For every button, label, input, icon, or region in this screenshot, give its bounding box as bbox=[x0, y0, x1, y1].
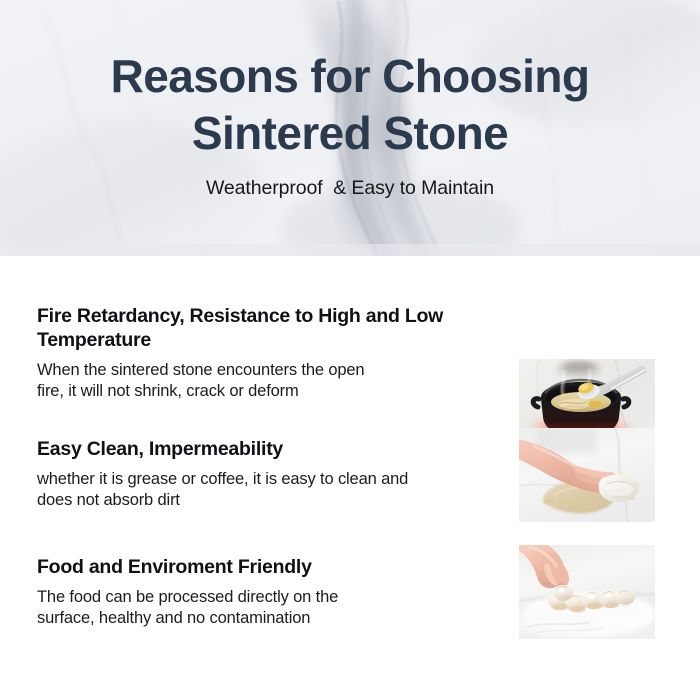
feature-body: The food can be processed directly on th… bbox=[37, 587, 502, 629]
feature-list: Fire Retardancy, Resistance to High and … bbox=[0, 256, 700, 700]
feature-text-block: Food and Enviroment Friendly The food ca… bbox=[37, 555, 502, 629]
feature-body: whether it is grease or coffee, it is ea… bbox=[37, 469, 502, 511]
feature-body-line-1: The food can be processed directly on th… bbox=[37, 587, 502, 608]
feature-body-line-2: does not absorb dirt bbox=[37, 490, 502, 511]
feature-thumbnail bbox=[519, 428, 655, 522]
feature-text-block: Fire Retardancy, Resistance to High and … bbox=[37, 304, 502, 402]
feature-heading-line-1: Fire Retardancy, Resistance to bbox=[37, 305, 313, 327]
header-banner: Reasons for Choosing Sintered Stone Weat… bbox=[0, 0, 700, 256]
feature-body-line-2: surface, healthy and no contamination bbox=[37, 608, 502, 629]
feature-thumbnail bbox=[519, 545, 655, 639]
banner-text-group: Reasons for Choosing Sintered Stone Weat… bbox=[0, 0, 700, 256]
feature-body-line-1: When the sintered stone encounters the o… bbox=[37, 360, 502, 381]
feature-body-line-1: whether it is grease or coffee, it is ea… bbox=[37, 469, 502, 490]
page-title-line-1: Reasons for Choosing bbox=[111, 48, 590, 105]
hand-wiping-coffee-stain-photo bbox=[519, 428, 655, 522]
feature-heading-line-1: Easy Clean, Impermeability bbox=[37, 438, 283, 460]
feature-heading: Fire Retardancy, Resistance to High and … bbox=[37, 304, 502, 352]
hand-shaping-dumplings-in-flour-photo bbox=[519, 545, 655, 639]
feature-body-line-2: fire, it will not shrink, crack or defor… bbox=[37, 381, 502, 402]
feature-text-block: Easy Clean, Impermeability whether it is… bbox=[37, 437, 502, 511]
feature-heading-line-1: Food and Enviroment Friendly bbox=[37, 556, 312, 578]
feature-body: When the sintered stone encounters the o… bbox=[37, 360, 502, 402]
page-subtitle: Weatherproof & Easy to Maintain bbox=[206, 176, 494, 200]
page-title-line-2: Sintered Stone bbox=[192, 105, 508, 162]
feature-heading: Easy Clean, Impermeability bbox=[37, 437, 502, 461]
poster-root: Reasons for Choosing Sintered Stone Weat… bbox=[0, 0, 700, 700]
feature-heading: Food and Enviroment Friendly bbox=[37, 555, 502, 579]
